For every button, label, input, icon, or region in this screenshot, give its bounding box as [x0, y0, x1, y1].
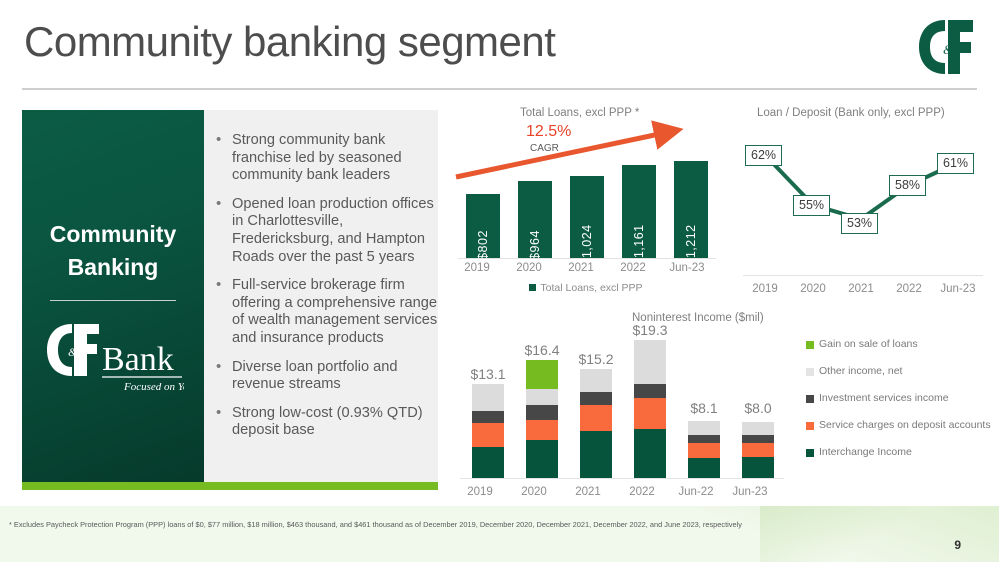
noninterest-income-chart: Noninterest Income ($mil) $13.1 $16.4 — [452, 308, 792, 498]
legend-label: Interchange Income — [819, 446, 912, 458]
bar-stack — [526, 360, 558, 478]
segment-investment — [688, 435, 720, 443]
data-label-2021: 53% — [841, 213, 878, 234]
segment-interchange — [634, 429, 666, 478]
footer-decoration-2 — [760, 506, 910, 562]
x-axis-line — [460, 478, 784, 479]
list-item: Opened loan production offices in Charlo… — [212, 196, 438, 266]
segment-interchange — [580, 431, 612, 478]
legend-label: Service charges on deposit accounts — [819, 419, 991, 431]
bar-jun23: $1,212 — [674, 161, 708, 258]
legend-item-gain-on-sale: Gain on sale of loans — [806, 338, 996, 351]
bar-total-label: $15.2 — [578, 351, 613, 367]
bar-total-label: $8.0 — [744, 400, 771, 416]
legend-swatch-other-income — [806, 368, 814, 376]
bar-value: $1,212 — [684, 224, 698, 265]
chart-title: Loan / Deposit (Bank only, excl PPP) — [757, 107, 945, 119]
segment-brand-panel: Community Banking & Bank Focused on You — [22, 110, 204, 482]
bar-2021: $1,024 — [570, 176, 604, 258]
loan-deposit-chart: Loan / Deposit (Bank only, excl PPP) 62%… — [735, 103, 990, 298]
data-label-jun23: 61% — [937, 153, 974, 174]
segment-investment — [580, 392, 612, 405]
segment-title-line1: Community — [22, 218, 204, 251]
x-axis-line — [743, 275, 983, 276]
segment-service-charges — [472, 423, 504, 447]
bar-value: $802 — [476, 230, 490, 260]
legend-label: Other income, net — [819, 365, 902, 377]
segment-service-charges — [742, 443, 774, 457]
data-label-2022: 58% — [889, 175, 926, 196]
x-tick-2020: 2020 — [506, 262, 552, 274]
x-tick-2019: 2019 — [741, 283, 789, 295]
list-item: Full-service brokerage firm offering a c… — [212, 277, 438, 347]
legend-swatch-investment-services — [806, 395, 814, 403]
footnote: * Excludes Paycheck Protection Program (… — [9, 520, 742, 529]
x-tick-2020: 2020 — [789, 283, 837, 295]
segment-title: Community Banking — [22, 218, 204, 284]
legend-swatch-service-charges — [806, 422, 814, 430]
legend-item-other-income: Other income, net — [806, 365, 996, 378]
svg-text:Bank: Bank — [102, 341, 174, 378]
bar-2019: $802 — [466, 194, 500, 258]
svg-text:&: & — [943, 42, 954, 57]
x-tick-2021: 2021 — [837, 283, 885, 295]
bullet-list: Strong community bank franchise led by s… — [212, 132, 438, 451]
bar-2022: $1,161 — [622, 165, 656, 258]
segment-investment — [742, 435, 774, 443]
legend-swatch-interchange — [806, 449, 814, 457]
legend-swatch-total-loans — [529, 284, 536, 291]
bar-2020: $964 — [518, 181, 552, 258]
segment-service-charges — [688, 443, 720, 458]
bar-total-label: $19.3 — [632, 322, 667, 338]
x-tick-jun22: Jun-22 — [670, 486, 722, 498]
segment-other-income — [580, 369, 612, 392]
legend-label: Total Loans, excl PPP — [540, 282, 642, 294]
cf-bank-logo: & Bank Focused on You — [42, 320, 184, 396]
legend-label: Investment services income — [819, 392, 949, 404]
bar-total-label: $13.1 — [470, 366, 505, 382]
data-label-2020: 55% — [793, 195, 830, 216]
segment-investment — [526, 405, 558, 420]
svg-text:Focused on You: Focused on You — [123, 381, 184, 393]
page-title: Community banking segment — [24, 18, 555, 66]
list-item: Strong community bank franchise led by s… — [212, 132, 438, 185]
segment-other-income — [472, 384, 504, 411]
bar-value: $964 — [528, 230, 542, 260]
bar-total-label: $8.1 — [690, 400, 717, 416]
segment-other-income — [634, 340, 666, 384]
bar-total-label: $16.4 — [524, 342, 559, 358]
segment-other-income — [742, 422, 774, 435]
cf-logo-icon: & — [915, 18, 977, 76]
segment-interchange — [742, 457, 774, 478]
list-item: Diverse loan portfolio and revenue strea… — [212, 359, 438, 394]
segment-interchange — [472, 447, 504, 478]
header-divider — [22, 88, 977, 90]
loan-deposit-plot: 62% 55% 53% 58% 61% — [743, 133, 983, 263]
x-tick-2021: 2021 — [562, 486, 614, 498]
legend-item-service-charges: Service charges on deposit accounts — [806, 419, 996, 432]
segment-interchange — [688, 458, 720, 478]
page-number: 9 — [954, 538, 961, 552]
total-loans-chart: Total Loans, excl PPP * 12.5% CAGR $802 … — [452, 103, 720, 298]
x-tick-jun23: Jun-23 — [724, 486, 776, 498]
segment-title-line2: Banking — [22, 251, 204, 284]
bar-stack — [688, 421, 720, 478]
x-tick-2019: 2019 — [454, 486, 506, 498]
x-tick-jun23: Jun-23 — [933, 283, 983, 295]
list-item: Strong low-cost (0.93% QTD) deposit base — [212, 405, 438, 440]
bar-value: $1,161 — [632, 224, 646, 265]
x-tick-2020: 2020 — [508, 486, 560, 498]
bar-stack — [742, 422, 774, 478]
svg-text:&: & — [68, 345, 78, 359]
slide: Community banking segment & Community Ba… — [0, 0, 999, 562]
accent-bar — [22, 482, 438, 490]
bar-stack — [580, 369, 612, 478]
x-tick-2019: 2019 — [454, 262, 500, 274]
legend-swatch-gain-on-sale — [806, 341, 814, 349]
segment-gain-on-sale — [526, 360, 558, 389]
segment-service-charges — [526, 420, 558, 440]
segment-other-income — [526, 389, 558, 405]
legend-item-investment-services: Investment services income — [806, 392, 996, 405]
total-loans-plot: $802 $964 $1,024 $1,161 $1,212 — [458, 158, 716, 258]
legend-item-interchange: Interchange Income — [806, 446, 996, 459]
x-tick-2022: 2022 — [885, 283, 933, 295]
panel-divider — [50, 300, 176, 301]
x-axis-line — [458, 258, 716, 259]
segment-interchange — [526, 440, 558, 478]
segment-service-charges — [634, 398, 666, 429]
segment-service-charges — [580, 405, 612, 431]
segment-investment — [472, 411, 504, 423]
x-tick-2022: 2022 — [610, 262, 656, 274]
bar-stack — [472, 384, 504, 478]
segment-investment — [634, 384, 666, 398]
x-tick-2021: 2021 — [558, 262, 604, 274]
bar-stack — [634, 340, 666, 478]
slide-footer: * Excludes Paycheck Protection Program (… — [0, 506, 999, 562]
data-label-2019: 62% — [745, 145, 782, 166]
noninterest-income-plot: $13.1 $16.4 — [460, 338, 784, 478]
x-tick-2022: 2022 — [616, 486, 668, 498]
legend-label: Gain on sale of loans — [819, 338, 918, 350]
chart-legend: Total Loans, excl PPP — [452, 282, 720, 294]
segment-other-income — [688, 421, 720, 435]
bar-value: $1,024 — [580, 224, 594, 265]
noninterest-income-legend: Gain on sale of loans Other income, net … — [806, 338, 996, 473]
x-tick-jun23: Jun-23 — [662, 262, 712, 274]
